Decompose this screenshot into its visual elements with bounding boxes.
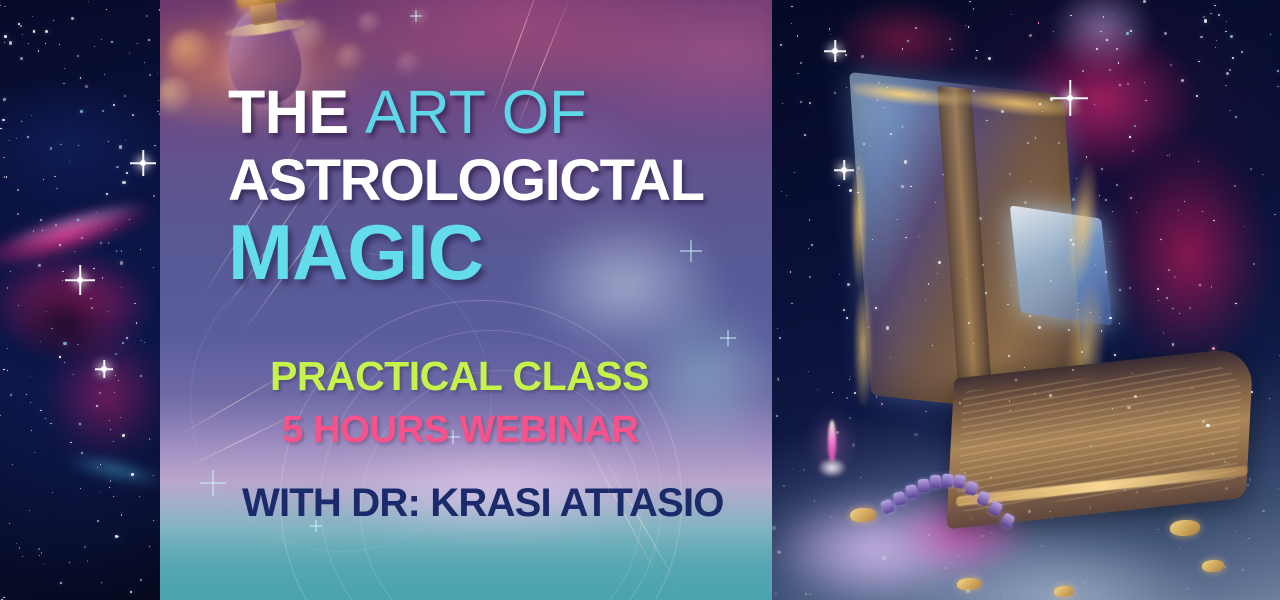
star — [111, 41, 113, 43]
star — [808, 371, 809, 372]
star — [4, 6, 6, 8]
star — [1009, 410, 1010, 411]
star — [1172, 433, 1173, 434]
star — [1177, 461, 1178, 462]
star — [59, 244, 61, 246]
star — [32, 16, 33, 17]
star — [925, 299, 926, 300]
star — [148, 39, 150, 41]
star — [62, 271, 64, 273]
star — [1114, 354, 1116, 356]
star — [1172, 308, 1173, 309]
star — [4, 42, 5, 43]
star — [878, 82, 880, 84]
star — [19, 547, 20, 548]
star — [100, 492, 101, 493]
star — [935, 202, 936, 203]
bright-star-icon — [834, 160, 854, 180]
star — [80, 110, 83, 113]
star — [115, 375, 116, 376]
star — [55, 224, 57, 226]
star — [1242, 569, 1244, 571]
star — [40, 219, 41, 220]
star — [1204, 19, 1207, 22]
star — [4, 35, 7, 38]
star — [1127, 406, 1131, 410]
star — [975, 57, 977, 59]
star — [144, 62, 145, 63]
star — [77, 344, 79, 346]
subtitle-hours-webinar: 5 HOURS WEBINAR — [282, 411, 639, 449]
star — [791, 23, 792, 24]
star — [905, 237, 907, 239]
star — [1241, 51, 1243, 53]
star — [60, 582, 61, 583]
star — [1050, 280, 1052, 282]
star — [81, 237, 83, 239]
star — [861, 55, 864, 58]
star — [839, 509, 840, 510]
star — [1070, 239, 1072, 241]
bright-star-icon — [95, 360, 113, 378]
star — [936, 466, 937, 467]
star — [149, 546, 150, 547]
star — [1247, 484, 1249, 486]
bright-star-icon — [130, 150, 156, 176]
star — [108, 141, 109, 142]
star — [2, 119, 5, 122]
bright-star-icon — [65, 265, 95, 295]
star — [88, 1, 89, 2]
star — [39, 555, 41, 557]
star — [838, 185, 839, 186]
star — [129, 219, 130, 220]
star — [979, 217, 982, 220]
star — [1203, 16, 1205, 18]
title-line-one: THE ART OF — [228, 82, 586, 143]
star — [115, 353, 117, 355]
star — [1105, 199, 1107, 201]
star — [73, 374, 74, 375]
star — [64, 362, 65, 363]
star — [38, 264, 41, 267]
star — [1090, 312, 1091, 313]
star — [140, 375, 142, 377]
star — [20, 57, 23, 60]
star — [1202, 420, 1205, 423]
star — [71, 17, 74, 20]
star — [101, 39, 102, 40]
star — [9, 140, 10, 141]
star — [146, 15, 148, 17]
star — [846, 397, 848, 399]
star — [776, 415, 778, 417]
candle-icon — [812, 420, 852, 510]
star — [805, 593, 807, 595]
star — [84, 546, 86, 548]
star — [140, 579, 142, 581]
star — [1109, 69, 1111, 71]
star — [1116, 184, 1118, 186]
star — [97, 467, 98, 468]
star — [1145, 100, 1146, 101]
gold-ornament-icon — [1170, 520, 1200, 536]
star — [69, 562, 70, 563]
star — [1260, 475, 1261, 476]
star — [1169, 154, 1171, 156]
star — [106, 9, 107, 10]
left-nebula-panel — [0, 0, 160, 600]
star — [832, 392, 833, 393]
star — [0, 5, 1, 6]
star — [1198, 161, 1199, 162]
star — [966, 279, 967, 280]
star — [1024, 367, 1025, 368]
star — [30, 402, 31, 403]
star — [63, 342, 66, 345]
star — [836, 546, 837, 547]
star — [17, 189, 19, 191]
star — [63, 83, 65, 85]
chain-link-icon — [976, 490, 991, 506]
star — [1072, 369, 1074, 371]
star — [16, 138, 17, 139]
star — [131, 473, 134, 476]
star — [1049, 511, 1051, 513]
star — [97, 520, 99, 522]
star — [1030, 181, 1031, 182]
star — [1235, 116, 1237, 118]
chain-link-icon — [880, 499, 895, 515]
jewel-chain-icon — [882, 470, 1012, 516]
star — [968, 322, 970, 324]
star — [31, 430, 32, 431]
star — [782, 103, 783, 104]
candle-base-icon — [814, 456, 850, 482]
star — [153, 520, 154, 521]
star — [1127, 83, 1129, 85]
star — [779, 337, 781, 339]
star — [973, 90, 975, 92]
star — [854, 436, 855, 437]
star — [986, 120, 987, 121]
star — [113, 104, 115, 106]
star — [1174, 276, 1176, 278]
star — [69, 161, 70, 162]
star — [96, 405, 98, 407]
star — [119, 145, 122, 148]
star — [1119, 289, 1121, 291]
star — [809, 276, 811, 278]
star — [1262, 510, 1264, 512]
star — [981, 535, 983, 537]
chain-link-icon — [893, 491, 907, 506]
star — [1191, 388, 1193, 390]
star — [149, 74, 151, 76]
star — [1028, 510, 1031, 513]
gold-ornament-icon — [957, 578, 981, 590]
star — [1189, 307, 1191, 309]
star — [94, 46, 96, 48]
star — [125, 140, 127, 142]
star — [907, 40, 909, 42]
star — [118, 536, 119, 537]
star — [923, 94, 924, 95]
star — [1224, 459, 1225, 460]
star — [60, 144, 62, 146]
star — [101, 229, 102, 230]
star — [811, 244, 813, 246]
star — [157, 111, 158, 112]
star — [887, 87, 888, 88]
star — [1116, 48, 1118, 50]
star — [1058, 142, 1060, 144]
star — [1172, 343, 1175, 346]
star — [1168, 269, 1170, 271]
star — [1027, 142, 1029, 144]
star — [126, 337, 128, 339]
presenter-name: WITH DR: KRASI ATTASIO — [242, 483, 724, 523]
star — [28, 43, 29, 44]
star — [33, 230, 35, 232]
star — [1251, 391, 1253, 393]
star — [1166, 297, 1168, 299]
bright-star-icon — [824, 40, 846, 62]
star — [136, 43, 138, 45]
title-word-the: THE — [228, 78, 365, 146]
star — [1129, 287, 1131, 289]
star — [20, 25, 22, 27]
star — [1166, 411, 1168, 413]
star — [45, 43, 47, 45]
title-line-astrologictal: ASTROLOGICTAL — [228, 152, 704, 210]
star — [87, 560, 89, 562]
star — [113, 441, 114, 442]
title-line-magic: MAGIC — [228, 213, 483, 291]
star — [0, 128, 1, 129]
star — [9, 523, 10, 524]
star — [794, 172, 795, 173]
star — [9, 41, 12, 44]
star — [113, 496, 114, 497]
star — [110, 480, 111, 481]
star — [1224, 566, 1226, 568]
star — [106, 193, 108, 195]
star — [882, 556, 886, 560]
star — [786, 195, 788, 197]
star — [59, 356, 60, 357]
star — [901, 185, 904, 188]
star — [139, 496, 140, 497]
star — [121, 287, 122, 288]
star — [804, 134, 806, 136]
star — [1225, 487, 1228, 490]
star — [1068, 329, 1070, 331]
star — [104, 74, 105, 75]
star — [79, 423, 81, 425]
star — [1096, 48, 1098, 50]
star — [1009, 173, 1011, 175]
bright-star-icon — [1052, 80, 1088, 116]
star — [121, 514, 123, 516]
star — [31, 115, 32, 116]
star — [132, 114, 134, 116]
magic-book-icon — [830, 85, 1250, 515]
star — [1270, 34, 1271, 35]
star — [1241, 536, 1242, 537]
star — [45, 30, 48, 33]
star — [1129, 136, 1130, 137]
star — [27, 136, 29, 138]
star — [144, 342, 145, 343]
star — [790, 271, 792, 273]
star — [1039, 103, 1041, 105]
star — [1026, 507, 1027, 508]
star — [33, 30, 35, 32]
star — [1277, 86, 1279, 88]
star — [17, 213, 18, 214]
banner-copy: THE ART OF ASTROLOGICTAL MAGIC PRACTICAL… — [160, 0, 772, 600]
star — [966, 589, 970, 593]
chain-link-icon — [930, 475, 941, 488]
star — [1200, 36, 1203, 39]
star — [124, 95, 126, 97]
star — [1106, 39, 1108, 41]
star — [50, 423, 51, 424]
star — [157, 73, 158, 74]
gold-ornament-icon — [1054, 586, 1074, 597]
star — [849, 189, 852, 192]
star — [958, 555, 960, 557]
star — [136, 322, 137, 323]
star — [120, 261, 123, 264]
star — [772, 526, 776, 530]
star — [77, 219, 79, 221]
star — [1112, 211, 1113, 212]
star — [809, 102, 811, 104]
star — [59, 44, 60, 45]
star — [886, 326, 890, 330]
star — [1274, 214, 1275, 215]
star — [843, 309, 845, 311]
star — [50, 147, 52, 149]
star — [77, 55, 79, 57]
star — [21, 121, 22, 122]
star — [1229, 69, 1231, 71]
star — [778, 380, 780, 382]
chain-link-icon — [917, 479, 929, 493]
star — [1073, 238, 1075, 240]
star — [1009, 400, 1010, 401]
star — [781, 191, 782, 192]
star — [141, 340, 142, 341]
star — [1250, 168, 1252, 170]
star — [834, 92, 836, 94]
star — [1126, 32, 1129, 35]
star — [41, 552, 42, 553]
star — [959, 402, 961, 404]
star — [1124, 489, 1126, 491]
star — [122, 181, 125, 184]
star — [925, 411, 927, 413]
star — [80, 77, 81, 78]
star — [53, 20, 54, 21]
star — [0, 415, 1, 416]
chain-link-icon — [965, 481, 979, 496]
star — [1119, 323, 1120, 324]
star — [1034, 393, 1036, 395]
star — [1119, 84, 1121, 86]
star — [1212, 453, 1214, 455]
star — [1049, 394, 1052, 397]
star — [973, 8, 974, 9]
star — [22, 556, 23, 557]
star — [29, 510, 30, 511]
star — [1110, 241, 1111, 242]
title-word-art-of: ART OF — [365, 78, 586, 146]
chain-link-icon — [953, 474, 966, 489]
star — [38, 548, 40, 550]
right-book-panel — [772, 0, 1280, 600]
star — [1143, 0, 1146, 3]
star — [102, 110, 104, 112]
star — [1163, 332, 1165, 334]
star — [1015, 379, 1016, 380]
star — [792, 468, 794, 470]
star — [110, 429, 111, 430]
star — [40, 341, 41, 342]
star — [85, 85, 88, 88]
star — [158, 100, 159, 101]
star — [1198, 61, 1200, 63]
star — [1227, 462, 1229, 464]
star — [1247, 477, 1248, 478]
star — [847, 283, 850, 286]
star — [1101, 330, 1103, 332]
star — [4, 176, 5, 177]
star — [126, 172, 128, 174]
star — [990, 476, 993, 479]
star — [121, 250, 122, 251]
star — [1001, 110, 1004, 113]
star — [822, 552, 823, 553]
gold-ornament-icon — [850, 508, 876, 522]
star — [1206, 424, 1209, 427]
star — [830, 34, 831, 35]
star — [852, 443, 856, 447]
star — [1132, 150, 1134, 152]
star — [777, 328, 778, 329]
chain-link-icon — [941, 474, 953, 488]
star — [154, 145, 155, 146]
star — [809, 219, 811, 221]
star — [890, 133, 892, 135]
star — [3, 597, 5, 599]
star — [3, 157, 5, 159]
star — [1164, 32, 1167, 35]
subtitle-practical-class: PRACTICAL CLASS — [270, 356, 649, 397]
star — [129, 52, 130, 53]
star — [938, 261, 941, 264]
star — [130, 591, 132, 593]
star — [830, 516, 832, 518]
promo-banner: THE ART OF ASTROLOGICTAL MAGIC PRACTICAL… — [0, 0, 1280, 600]
star — [1090, 445, 1092, 447]
star — [109, 487, 110, 488]
star — [108, 311, 109, 312]
star — [817, 389, 818, 390]
star — [6, 176, 8, 178]
